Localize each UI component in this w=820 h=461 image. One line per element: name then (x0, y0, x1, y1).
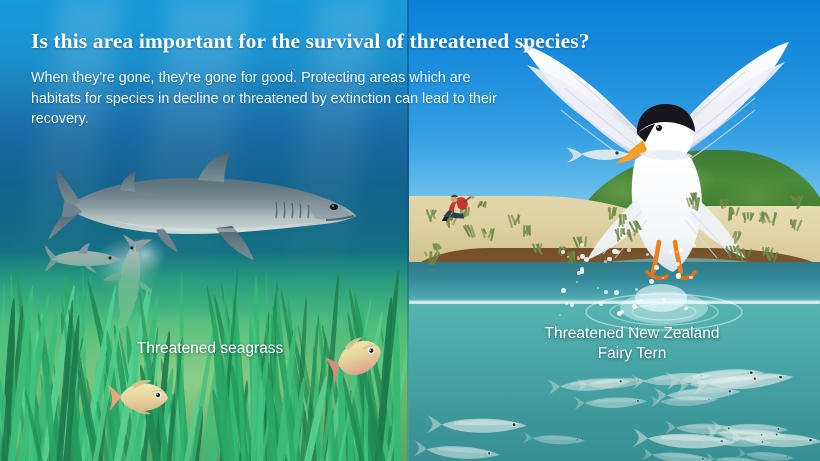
water-droplet (570, 303, 574, 307)
water-droplet (620, 310, 624, 314)
water-droplet (599, 302, 603, 306)
water-droplet (604, 260, 607, 263)
water-droplet (676, 273, 681, 278)
water-droplet (580, 267, 584, 271)
water-droplet (627, 248, 630, 251)
water-droplet (640, 299, 643, 302)
water-droplet (632, 304, 637, 309)
panel-threatened-seagrass (0, 0, 409, 461)
water-droplet (561, 250, 565, 254)
water-droplet (577, 257, 580, 260)
water-droplet (577, 271, 581, 275)
water-droplet (604, 290, 608, 294)
water-droplet (693, 244, 696, 247)
water-droplet (654, 265, 659, 270)
water-droplet (580, 243, 584, 247)
water-droplet (559, 314, 561, 316)
water-droplet (616, 250, 620, 254)
water-droplet (607, 257, 612, 262)
water-droplet (567, 256, 569, 258)
water-droplet (614, 290, 618, 294)
water-droplet (584, 257, 589, 262)
water-droplet (646, 253, 649, 256)
water-droplet (649, 279, 654, 284)
caption-threatened-seagrass: Threatened seagrass (60, 339, 360, 359)
reef-fish-icon (108, 378, 170, 416)
water-droplet (635, 288, 638, 291)
water-droplet (662, 277, 664, 279)
water-droplet (689, 276, 693, 280)
water-droplet (571, 246, 573, 248)
water-droplet (561, 288, 566, 293)
water-droplet (565, 302, 568, 305)
panel-threatened-fairy-tern (409, 0, 820, 461)
water-droplet (684, 307, 688, 311)
water-droplet (676, 251, 678, 253)
water-droplet (662, 298, 665, 301)
water-droplets (409, 0, 820, 461)
water-droplet (676, 262, 680, 266)
water-droplet (597, 287, 599, 289)
water-droplet (678, 248, 683, 253)
water-droplet (652, 285, 654, 287)
infographic-slide: Is this area important for the survival … (0, 0, 820, 461)
water-droplet (576, 281, 578, 283)
